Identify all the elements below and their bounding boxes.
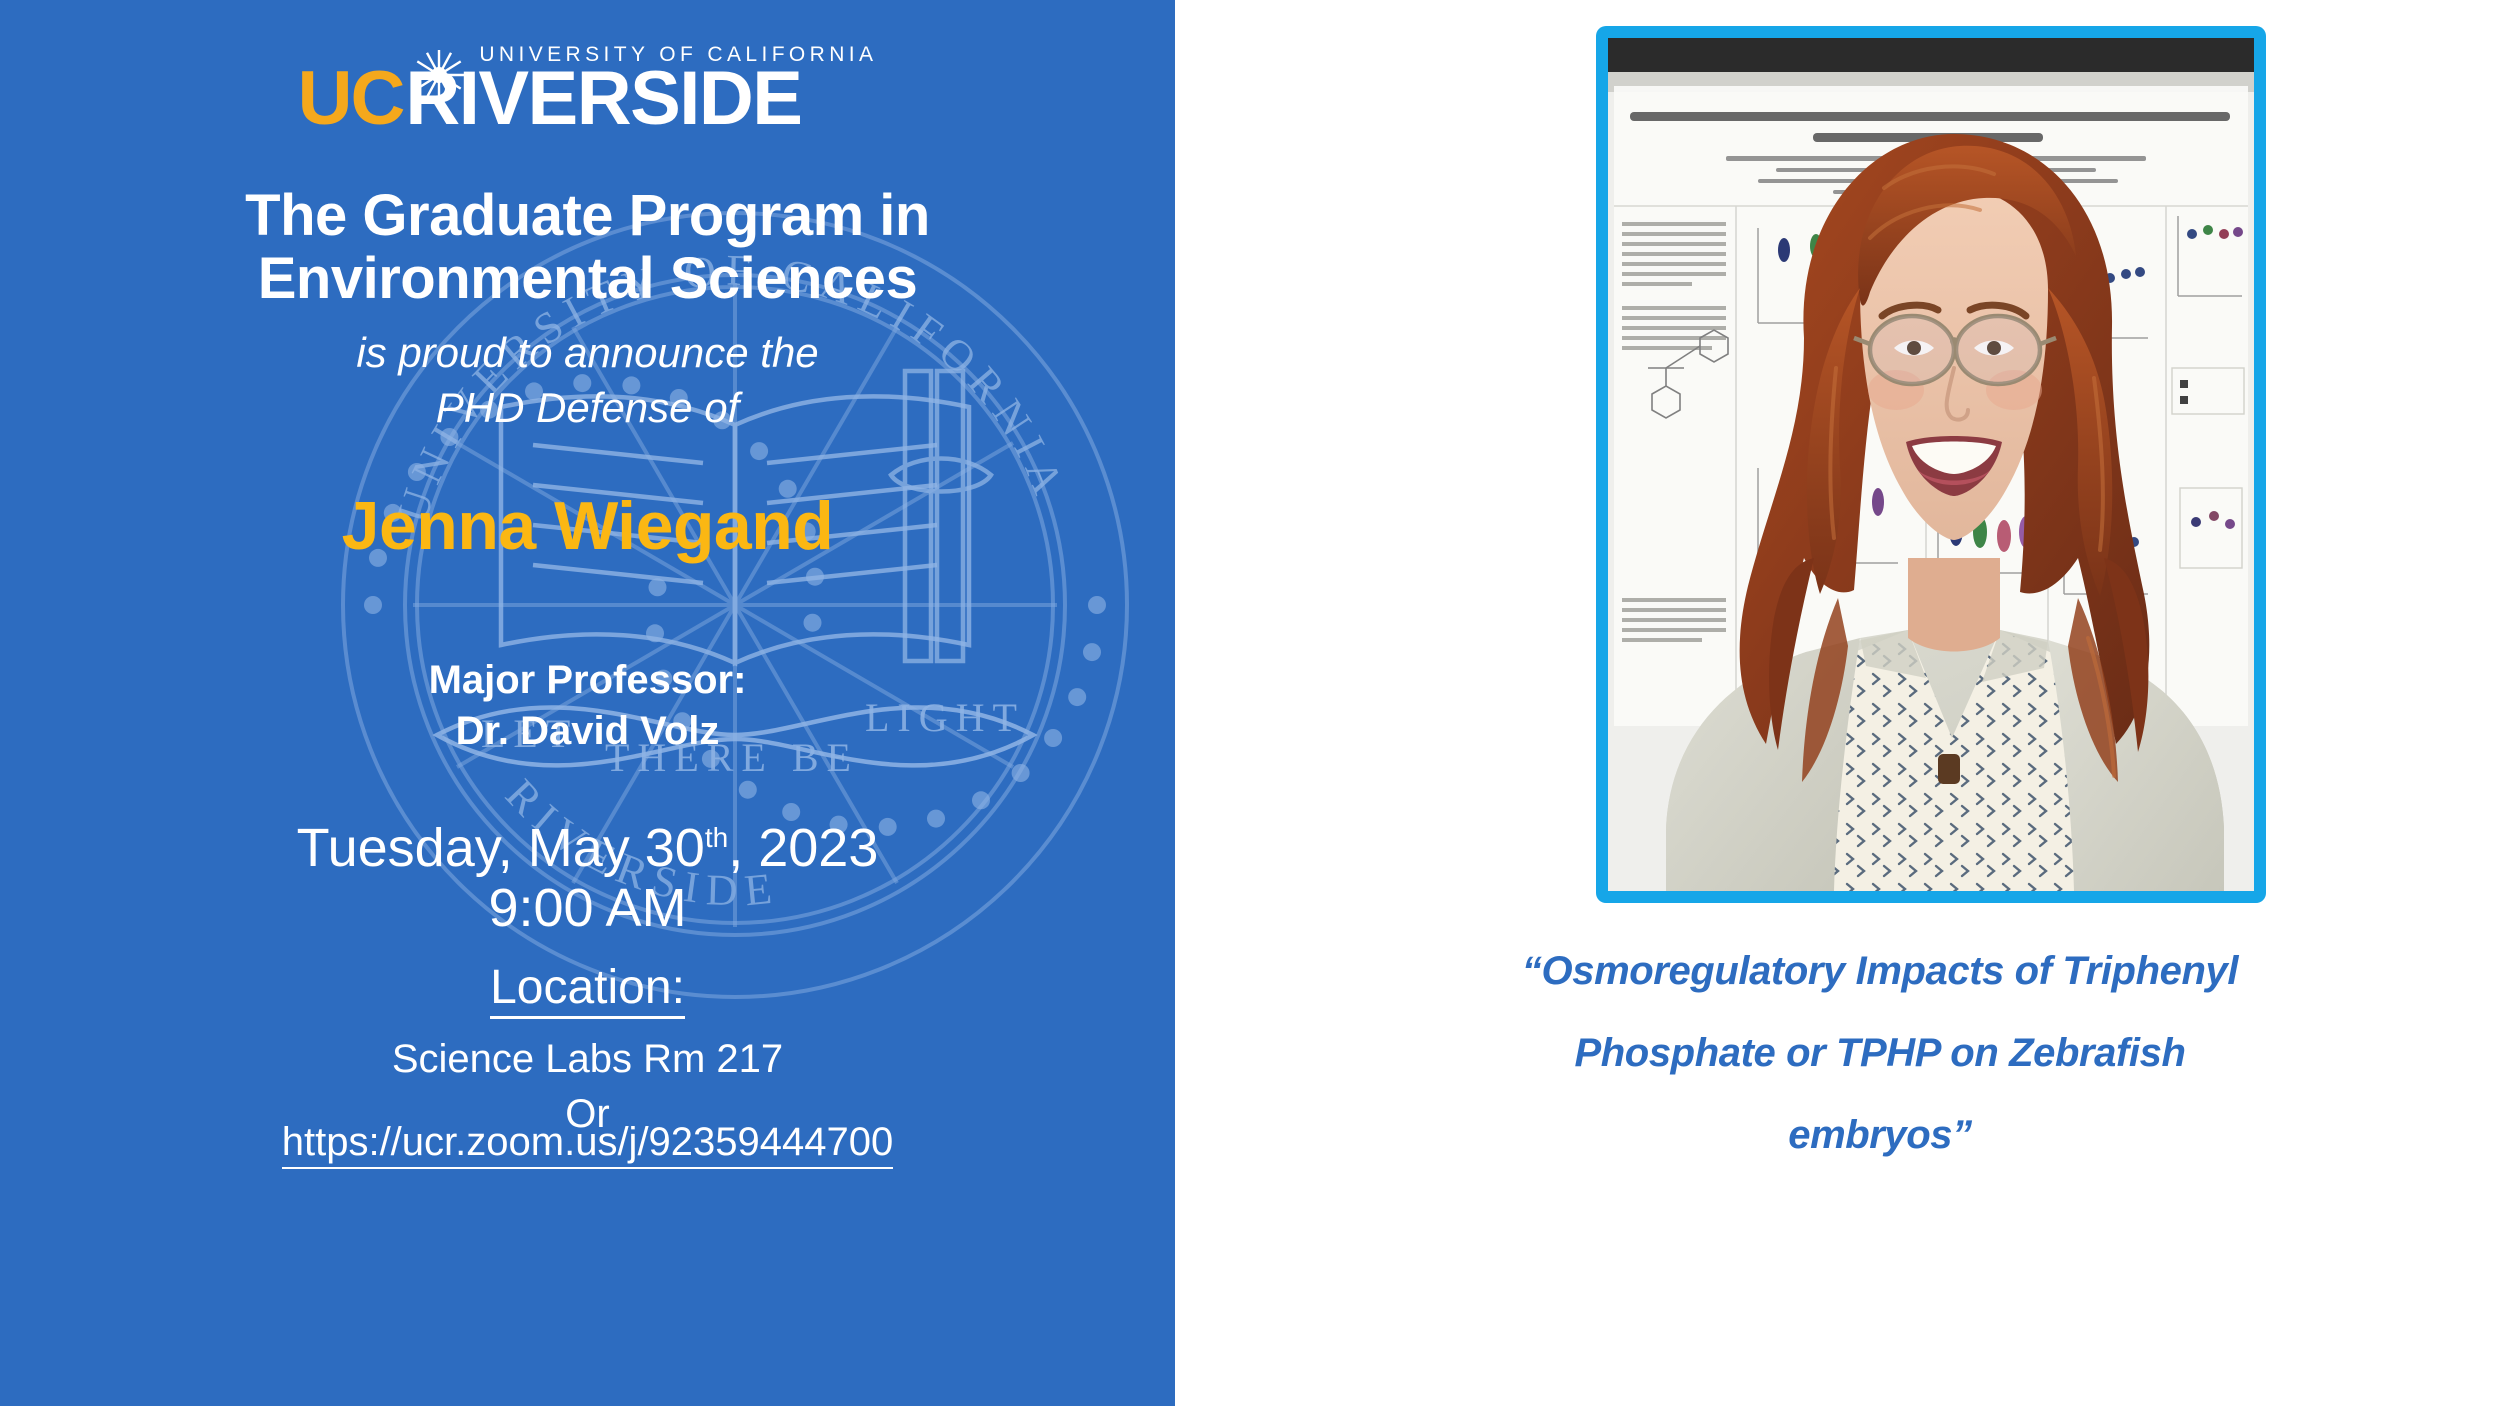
- event-date-ordinal: th: [705, 822, 728, 853]
- event-datetime: Tuesday, May 30th, 2023 9:00 AM: [0, 818, 1175, 939]
- thesis-title: “Osmoregulatory Impacts of Triphenyl Pho…: [1430, 930, 2330, 1176]
- announcement-subline: is proud to announce the PHD Defense of: [0, 325, 1175, 436]
- announcement-subline-1: is proud to announce the: [0, 325, 1175, 380]
- event-date-suffix: , 2023: [728, 818, 878, 878]
- announcement-subline-2: PHD Defense of: [0, 380, 1175, 435]
- candidate-photo-image: [1608, 38, 2254, 891]
- program-headline: The Graduate Program in Environmental Sc…: [0, 185, 1175, 310]
- logo-riverside-text: RIVERSIDE: [405, 68, 877, 130]
- location-room: Science Labs Rm 217: [0, 1032, 1175, 1087]
- thesis-title-line1: “Osmoregulatory Impacts of Triphenyl: [1430, 930, 2330, 1012]
- event-date-prefix: Tuesday, May 30: [297, 818, 705, 878]
- ucr-logo: UC UNIVERSITY OF CALIFORNIA: [0, 44, 1175, 130]
- candidate-photo-frame: [1596, 26, 2266, 903]
- sunburst-icon: [411, 47, 467, 103]
- candidate-photo: [1608, 38, 2254, 891]
- event-time: 9:00 AM: [0, 878, 1175, 938]
- candidate-name: Jenna Wiegand: [0, 492, 1175, 560]
- zoom-link[interactable]: https://ucr.zoom.us/j/92359444700: [0, 1118, 1175, 1166]
- program-headline-line1: The Graduate Program in: [0, 185, 1175, 248]
- announcement-panel: UNIVERSITY OF CALIFORNIA RIVERSIDE: [0, 0, 1175, 1406]
- logo-uc-text: UC: [298, 68, 404, 130]
- event-date: Tuesday, May 30th, 2023: [0, 818, 1175, 878]
- location-heading-text: Location:: [490, 961, 685, 1019]
- major-professor-label: Major Professor:: [0, 655, 1175, 706]
- major-professor-name: Dr. David Volz: [0, 706, 1175, 757]
- program-headline-line2: Environmental Sciences: [0, 248, 1175, 311]
- thesis-title-line3: embryos”: [1430, 1094, 2330, 1176]
- zoom-link-text[interactable]: https://ucr.zoom.us/j/92359444700: [282, 1120, 894, 1169]
- thesis-title-line2: Phosphate or TPHP on Zebrafish: [1430, 1012, 2330, 1094]
- major-professor-block: Major Professor: Dr. David Volz: [0, 655, 1175, 757]
- location-heading: Location:: [0, 962, 1175, 1015]
